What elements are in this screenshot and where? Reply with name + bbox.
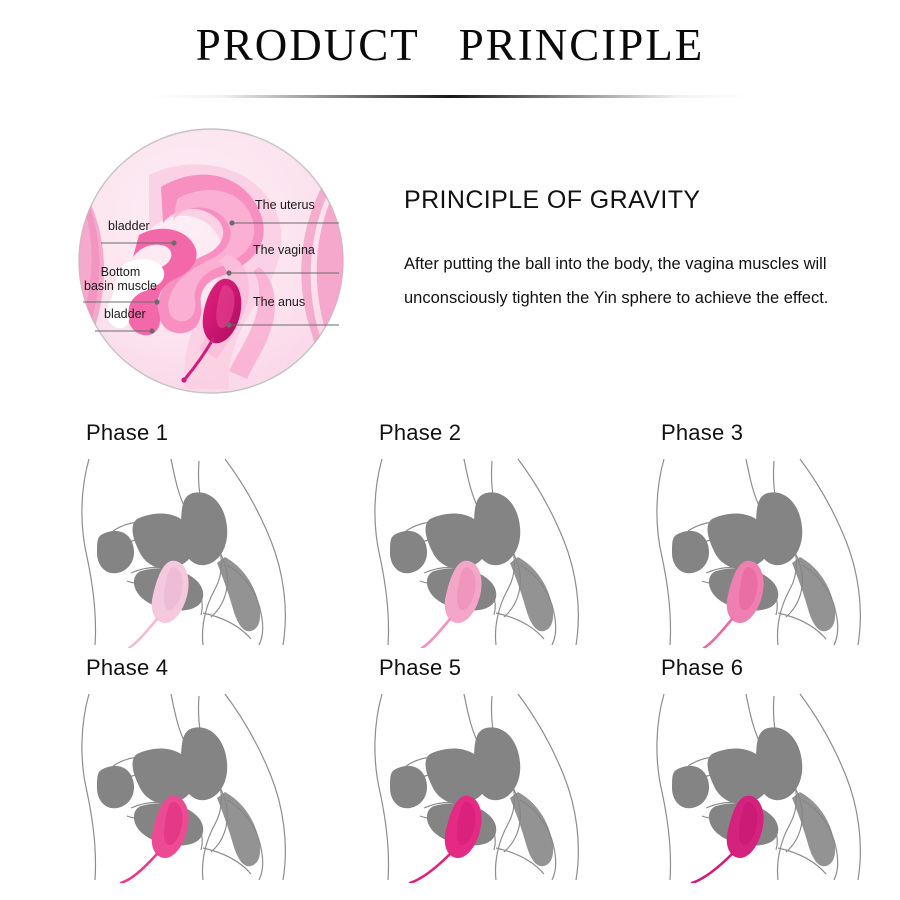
label-anus: The anus <box>253 295 305 309</box>
phase-cell-2: Phase 2 <box>368 415 648 650</box>
phase-row-bottom: Phase 4 <box>0 650 900 885</box>
phase-label-6: Phase 6 <box>661 655 743 681</box>
phase-cell-5: Phase 5 <box>368 650 648 885</box>
phase-label-4: Phase 4 <box>86 655 168 681</box>
title-divider <box>150 95 750 98</box>
phase-grid: Phase 1 <box>0 415 900 885</box>
label-basin-line2: basin muscle <box>84 279 157 293</box>
phase-label-2: Phase 2 <box>379 420 461 446</box>
gravity-heading: PRINCIPLE OF GRAVITY <box>404 186 874 215</box>
phase-illustration-3 <box>650 453 890 648</box>
phase-cell-6: Phase 6 <box>650 650 900 885</box>
label-basin-line1: Bottom <box>84 265 157 279</box>
phase-label-5: Phase 5 <box>379 655 461 681</box>
page-title: PRODUCT PRINCIPLE <box>0 22 900 69</box>
anatomy-diagram <box>77 127 345 395</box>
label-vagina: The vagina <box>253 243 315 257</box>
anatomy-illustration <box>77 127 345 395</box>
page-title-block: PRODUCT PRINCIPLE <box>0 22 900 69</box>
pelvis-diagram-6 <box>650 688 890 883</box>
pelvis-diagram-3 <box>650 453 890 648</box>
label-bottom-basin-muscle: Bottom basin muscle <box>84 265 157 294</box>
label-bladder-lower: bladder <box>104 307 146 321</box>
phase-illustration-2 <box>368 453 608 648</box>
phase-illustration-4 <box>75 688 315 883</box>
label-bladder-upper: bladder <box>108 219 150 233</box>
phase-cell-3: Phase 3 <box>650 415 900 650</box>
gravity-body: After putting the ball into the body, th… <box>404 248 844 316</box>
phase-illustration-1 <box>75 453 315 648</box>
phase-row-top: Phase 1 <box>0 415 900 650</box>
pelvis-diagram-1 <box>75 453 315 648</box>
gravity-section: PRINCIPLE OF GRAVITY After putting the b… <box>404 186 874 316</box>
phase-illustration-6 <box>650 688 890 883</box>
phase-cell-4: Phase 4 <box>75 650 355 885</box>
pelvis-diagram-5 <box>368 688 608 883</box>
pelvis-diagram-2 <box>368 453 608 648</box>
pelvis-diagram-4 <box>75 688 315 883</box>
label-uterus: The uterus <box>255 198 315 212</box>
phase-label-1: Phase 1 <box>86 420 168 446</box>
phase-illustration-5 <box>368 688 608 883</box>
phase-cell-1: Phase 1 <box>75 415 355 650</box>
phase-label-3: Phase 3 <box>661 420 743 446</box>
